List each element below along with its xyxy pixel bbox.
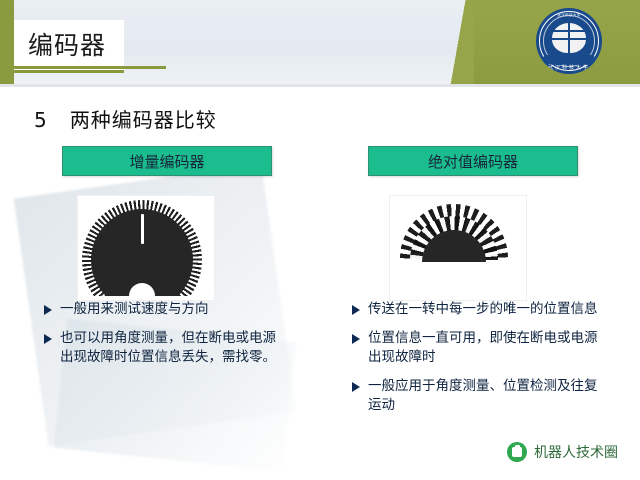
column-header-absolute: 绝对值编码器 (368, 146, 578, 176)
list-item-text: 一般用来测试速度与方向 (60, 300, 209, 319)
list-item-text: 位置信息一直可用，即使在断电或电源出现故障时 (368, 329, 602, 367)
bullet-triangle-icon (44, 334, 52, 344)
list-item-text: 也可以用角度测量，但在断电或电源出现故障时位置信息丢失，需找零。 (60, 329, 284, 367)
list-item: 位置信息一直可用，即使在断电或电源出现故障时 (352, 329, 602, 367)
slide: 编码器 武汉科技大学 武汉科技大学 5 两种编码器比较 增量编码器 (0, 0, 640, 480)
column-header-incremental-label: 增量编码器 (129, 151, 204, 172)
absolute-disc-canvas (394, 200, 522, 296)
list-item: 也可以用角度测量，但在断电或电源出现故障时位置信息丢失，需找零。 (44, 329, 284, 367)
seal-globe-icon (552, 23, 586, 53)
bullet-triangle-icon (44, 305, 52, 315)
absolute-disc-hub (441, 283, 467, 296)
column-absolute: 绝对值编码器 (368, 146, 578, 176)
absolute-encoder-disc (390, 196, 526, 300)
watermark: 机器人技术圈 (507, 442, 618, 462)
list-item: 一般应用于角度测量、位置检测及往复运动 (352, 377, 602, 415)
olive-accent-left (0, 0, 14, 84)
wechat-account-badge-icon (507, 442, 527, 462)
slide-title-underline (14, 66, 166, 69)
incremental-encoder-disc (78, 196, 214, 300)
bullet-triangle-icon (352, 382, 360, 392)
watermark-text: 机器人技术圈 (534, 442, 618, 462)
column-header-incremental: 增量编码器 (62, 146, 272, 176)
incremental-disc-canvas (82, 200, 210, 296)
column-header-absolute-label: 绝对值编码器 (428, 151, 518, 172)
list-item: 一般用来测试速度与方向 (44, 300, 284, 319)
seal-bottom-text: 武汉科技大学 (536, 64, 602, 71)
section-number: 5 (34, 108, 48, 132)
slide-title: 编码器 (28, 26, 106, 62)
bullets-incremental: 一般用来测试速度与方向 也可以用角度测量，但在断电或电源出现故障时位置信息丢失，… (44, 300, 284, 377)
list-item-text: 传送在一转中每一步的唯一的位置信息 (368, 300, 598, 319)
bullet-triangle-icon (352, 305, 360, 315)
seal-top-text: 武汉科技大学 (536, 13, 602, 18)
page-title: 5 两种编码器比较 (34, 104, 217, 133)
bullet-triangle-icon (352, 334, 360, 344)
bullets-absolute: 传送在一转中每一步的唯一的位置信息 位置信息一直可用，即使在断电或电源出现故障时… (352, 300, 602, 425)
column-incremental: 增量编码器 (62, 146, 272, 176)
seal-globe-meridian (568, 23, 570, 53)
incremental-disc-needle (141, 214, 144, 244)
title-band-divider (0, 84, 640, 87)
section-heading: 两种编码器比较 (70, 108, 217, 132)
university-seal-icon: 武汉科技大学 武汉科技大学 (536, 8, 602, 74)
list-item-text: 一般应用于角度测量、位置检测及往复运动 (368, 377, 602, 415)
list-item: 传送在一转中每一步的唯一的位置信息 (352, 300, 602, 319)
